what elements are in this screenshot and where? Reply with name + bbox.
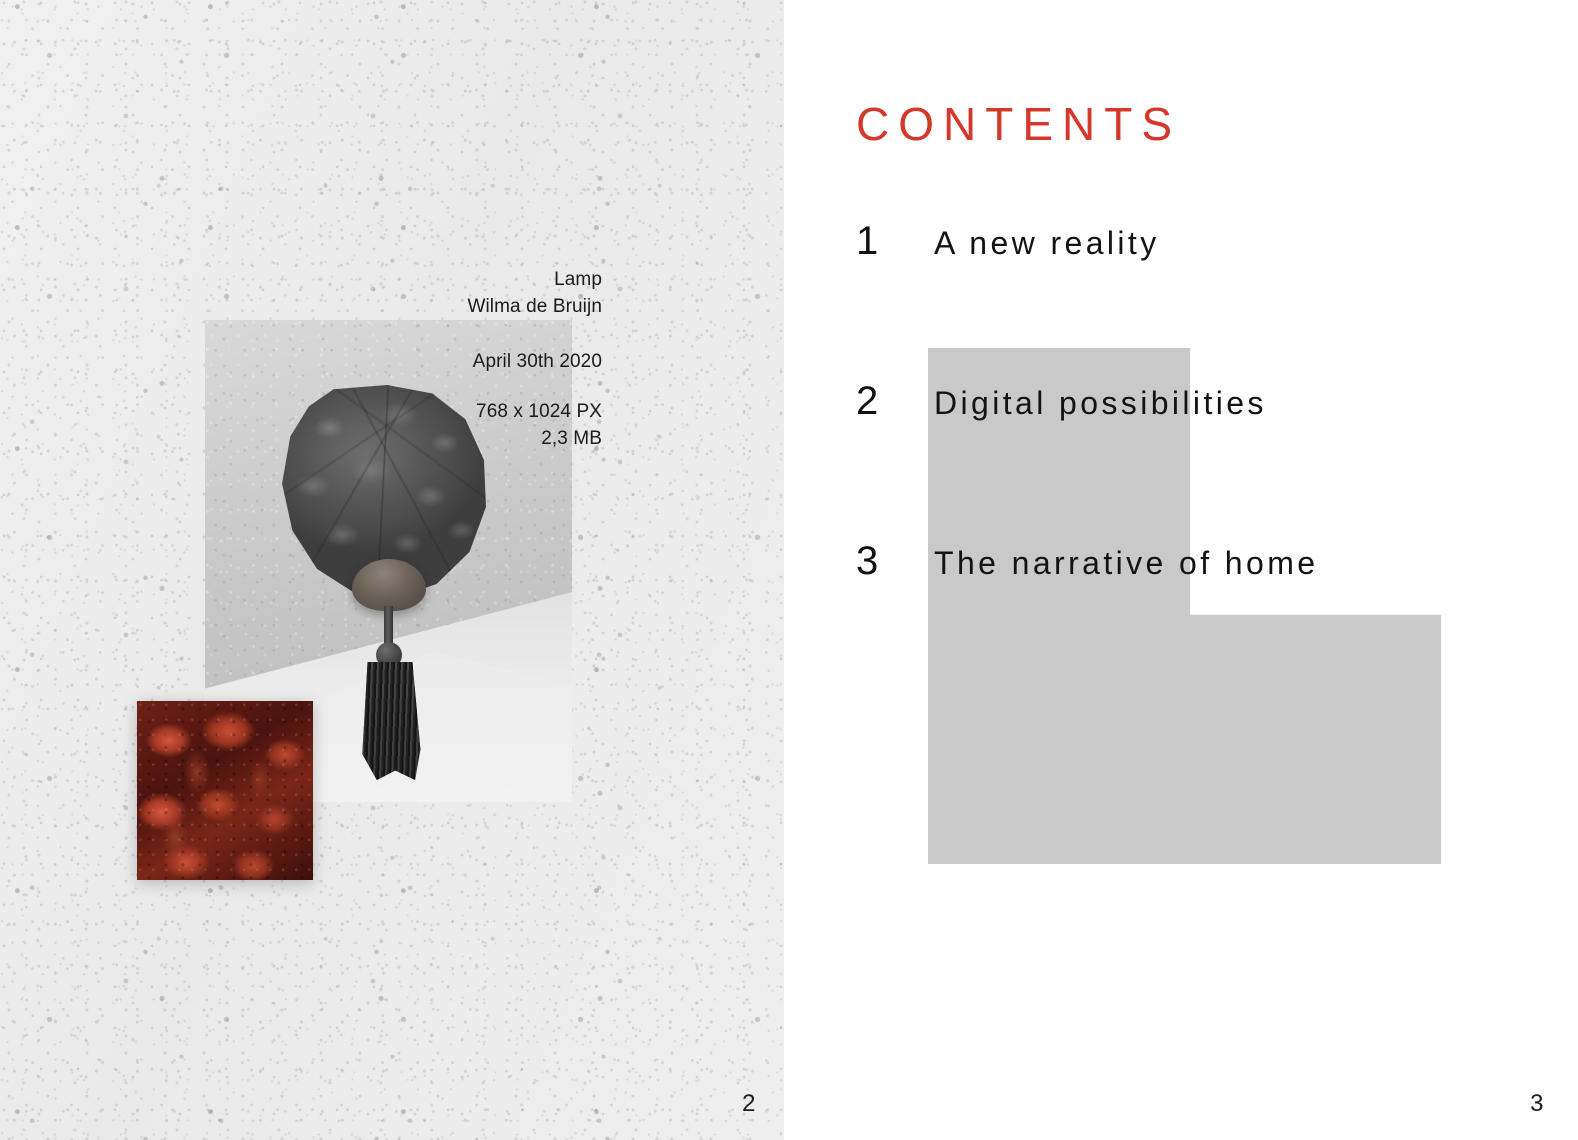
page-number-right: 3 <box>1530 1090 1544 1118</box>
red-floral-fabric-swatch <box>137 701 313 880</box>
caption-title: Lamp <box>330 266 602 293</box>
toc-item-2[interactable]: 2 Digital possibilities <box>856 379 1267 424</box>
lamp-finial <box>352 559 426 611</box>
page-title: CONTENTS <box>856 97 1181 151</box>
toc-item-1[interactable]: 1 A new reality <box>856 219 1160 264</box>
left-page: Lamp Wilma de Bruijn April 30th 2020 768… <box>0 0 784 1140</box>
caption-date: April 30th 2020 <box>330 348 602 375</box>
lamp-tassel <box>357 662 423 780</box>
page-number-left: 2 <box>742 1090 756 1118</box>
toc-item-label: Digital possibilities <box>934 385 1267 422</box>
photo-caption: Lamp Wilma de Bruijn April 30th 2020 768… <box>330 266 602 452</box>
caption-author: Wilma de Bruijn <box>330 293 602 320</box>
toc-item-number: 1 <box>856 219 934 264</box>
toc-item-label: The narrative of home <box>934 545 1318 582</box>
toc-item-label: A new reality <box>934 225 1160 262</box>
caption-dimensions: 768 x 1024 PX <box>330 398 602 425</box>
fabric-grain <box>137 701 313 880</box>
right-page: CONTENTS 1 A new reality 2 Digital possi… <box>784 0 1578 1140</box>
caption-filesize: 2,3 MB <box>330 425 602 452</box>
caption-spacer-2 <box>330 375 602 398</box>
decorative-grey-block <box>928 348 1441 864</box>
toc-item-number: 2 <box>856 379 934 424</box>
toc-item-3[interactable]: 3 The narrative of home <box>856 539 1318 584</box>
presentation-spread: Lamp Wilma de Bruijn April 30th 2020 768… <box>0 0 1578 1140</box>
caption-spacer-1 <box>330 320 602 348</box>
toc-item-number: 3 <box>856 539 934 584</box>
